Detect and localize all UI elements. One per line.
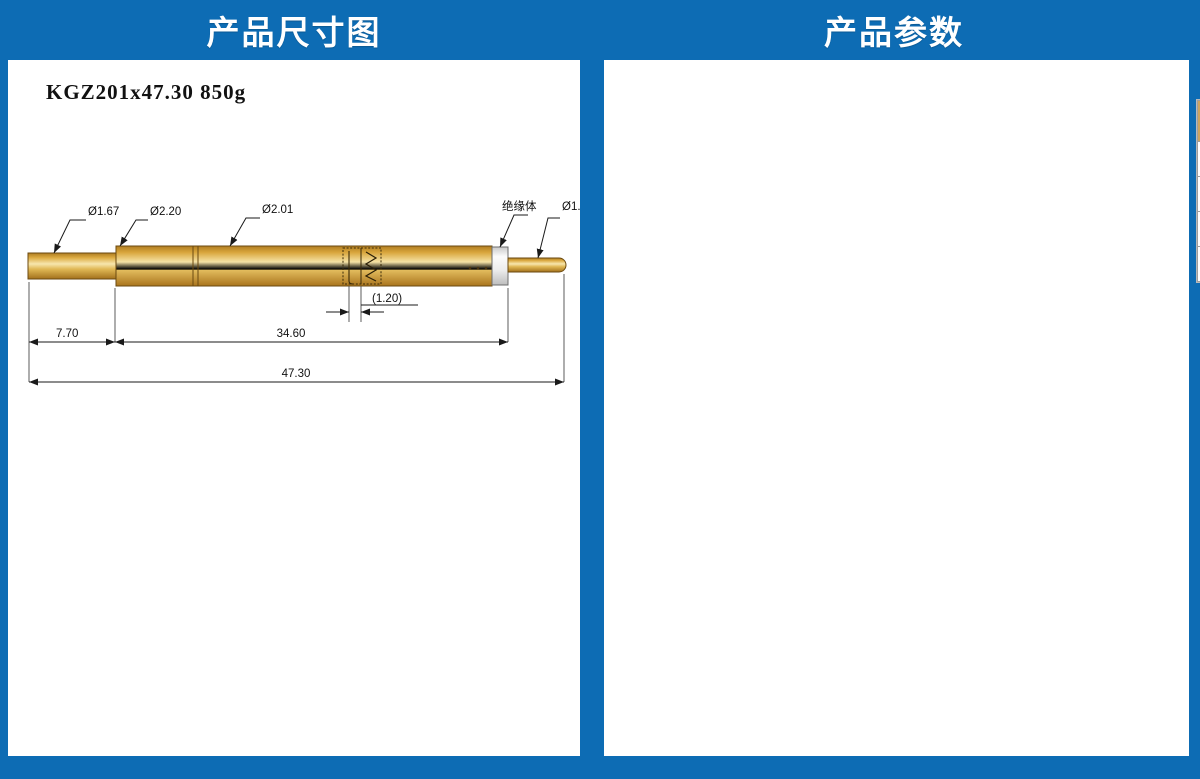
- plunger-section: [28, 253, 116, 279]
- diameter-callout-1: Ø1.67: [88, 206, 119, 218]
- drawing-panel: KGZ201x47.30 850g: [8, 60, 580, 756]
- insulator-band: [492, 247, 508, 285]
- left-column: 产品尺寸图 KGZ201x47.30 850g: [0, 0, 588, 779]
- diameter-callout-4: Ø1.00: [562, 201, 580, 213]
- dim-label-7-70: 7.70: [56, 328, 78, 340]
- dim-47-30: 47.30: [29, 368, 564, 382]
- barrel-section: [116, 246, 492, 286]
- insulator-callout: 绝缘体: [502, 199, 537, 213]
- background-watermark: [438, 540, 608, 690]
- diameter-callout-2: Ø2.20: [150, 206, 181, 218]
- right-banner-title: 产品参数: [588, 0, 1200, 60]
- dim-label-1-20: (1.20): [372, 293, 402, 305]
- dim-34-60: 34.60: [115, 328, 508, 342]
- right-column: 产品参数 技术要求（Technical Specifications）： 开关距…: [588, 0, 1200, 779]
- dim-label-47-30: 47.30: [282, 368, 311, 380]
- dim-7-70: 7.70: [29, 328, 115, 342]
- tail-rod-section: [508, 258, 566, 272]
- diameter-callout-3: Ø2.01: [262, 204, 293, 216]
- product-dimension-drawing: Ø1.67 Ø2.20 Ø2.01 绝缘体 Ø1.00: [8, 60, 580, 390]
- dim-1-20: (1.20): [326, 293, 418, 312]
- left-banner-title: 产品尺寸图: [0, 0, 588, 60]
- dim-label-34-60: 34.60: [277, 328, 306, 340]
- datasheet-page: 产品尺寸图 KGZ201x47.30 850g: [0, 0, 1200, 779]
- parameters-panel: 技术要求（Technical Specifications）： 开关距离 1.2…: [604, 60, 1189, 756]
